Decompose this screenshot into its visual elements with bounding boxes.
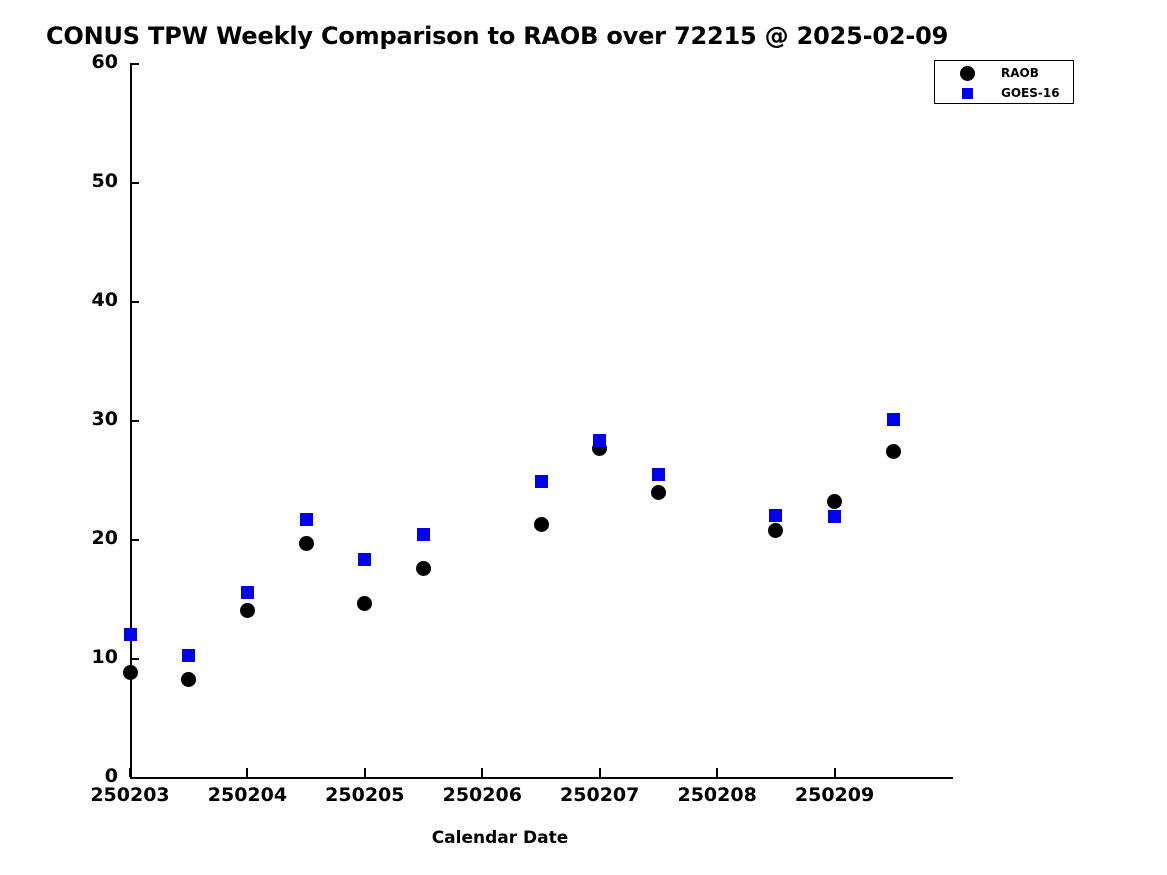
page-title: CONUS TPW Weekly Comparison to RAOB over… <box>46 22 948 50</box>
x-tick-label: 250207 <box>535 784 665 806</box>
data-point-raob <box>357 596 372 611</box>
plot-area <box>130 64 952 778</box>
y-tick-label: 10 <box>72 646 118 668</box>
legend-item-label: GOES-16 <box>1001 86 1060 100</box>
data-point-goes-16 <box>182 649 195 662</box>
filled-square-marker-icon <box>962 88 973 99</box>
data-point-goes-16 <box>358 553 371 566</box>
data-point-goes-16 <box>828 510 841 523</box>
data-point-raob <box>886 444 901 459</box>
chart-legend: RAOB GOES-16 <box>934 60 1074 104</box>
data-point-raob <box>416 561 431 576</box>
data-point-raob <box>827 494 842 509</box>
y-tick-label: 40 <box>72 289 118 311</box>
data-point-goes-16 <box>887 413 900 426</box>
x-tick-label: 250203 <box>65 784 195 806</box>
data-point-goes-16 <box>593 434 606 447</box>
data-point-raob <box>181 672 196 687</box>
legend-item-label: RAOB <box>1001 66 1039 80</box>
x-tick-label: 250209 <box>770 784 900 806</box>
x-tick-label: 250206 <box>417 784 547 806</box>
x-tick-label: 250205 <box>300 784 430 806</box>
data-point-goes-16 <box>417 528 430 541</box>
chart-page: CONUS TPW Weekly Comparison to RAOB over… <box>0 0 1167 875</box>
x-axis-label: Calendar Date <box>0 828 1000 848</box>
data-point-goes-16 <box>241 586 254 599</box>
y-tick-label: 20 <box>72 527 118 549</box>
data-point-raob <box>240 603 255 618</box>
data-point-raob <box>768 523 783 538</box>
legend-item-raob: RAOB <box>935 63 1073 83</box>
legend-item-goes-16: GOES-16 <box>935 83 1073 103</box>
y-tick-label: 30 <box>72 408 118 430</box>
y-tick-label: 60 <box>72 51 118 73</box>
filled-circle-marker-icon <box>960 66 975 81</box>
data-point-goes-16 <box>300 513 313 526</box>
x-tick-label: 250204 <box>182 784 312 806</box>
data-point-raob <box>123 665 138 680</box>
x-tick-label: 250208 <box>652 784 782 806</box>
data-point-raob <box>299 536 314 551</box>
data-point-goes-16 <box>535 475 548 488</box>
data-point-goes-16 <box>769 509 782 522</box>
y-tick-label: 50 <box>72 170 118 192</box>
data-point-goes-16 <box>652 468 665 481</box>
data-point-goes-16 <box>124 628 137 641</box>
data-point-raob <box>534 517 549 532</box>
data-point-raob <box>651 485 666 500</box>
